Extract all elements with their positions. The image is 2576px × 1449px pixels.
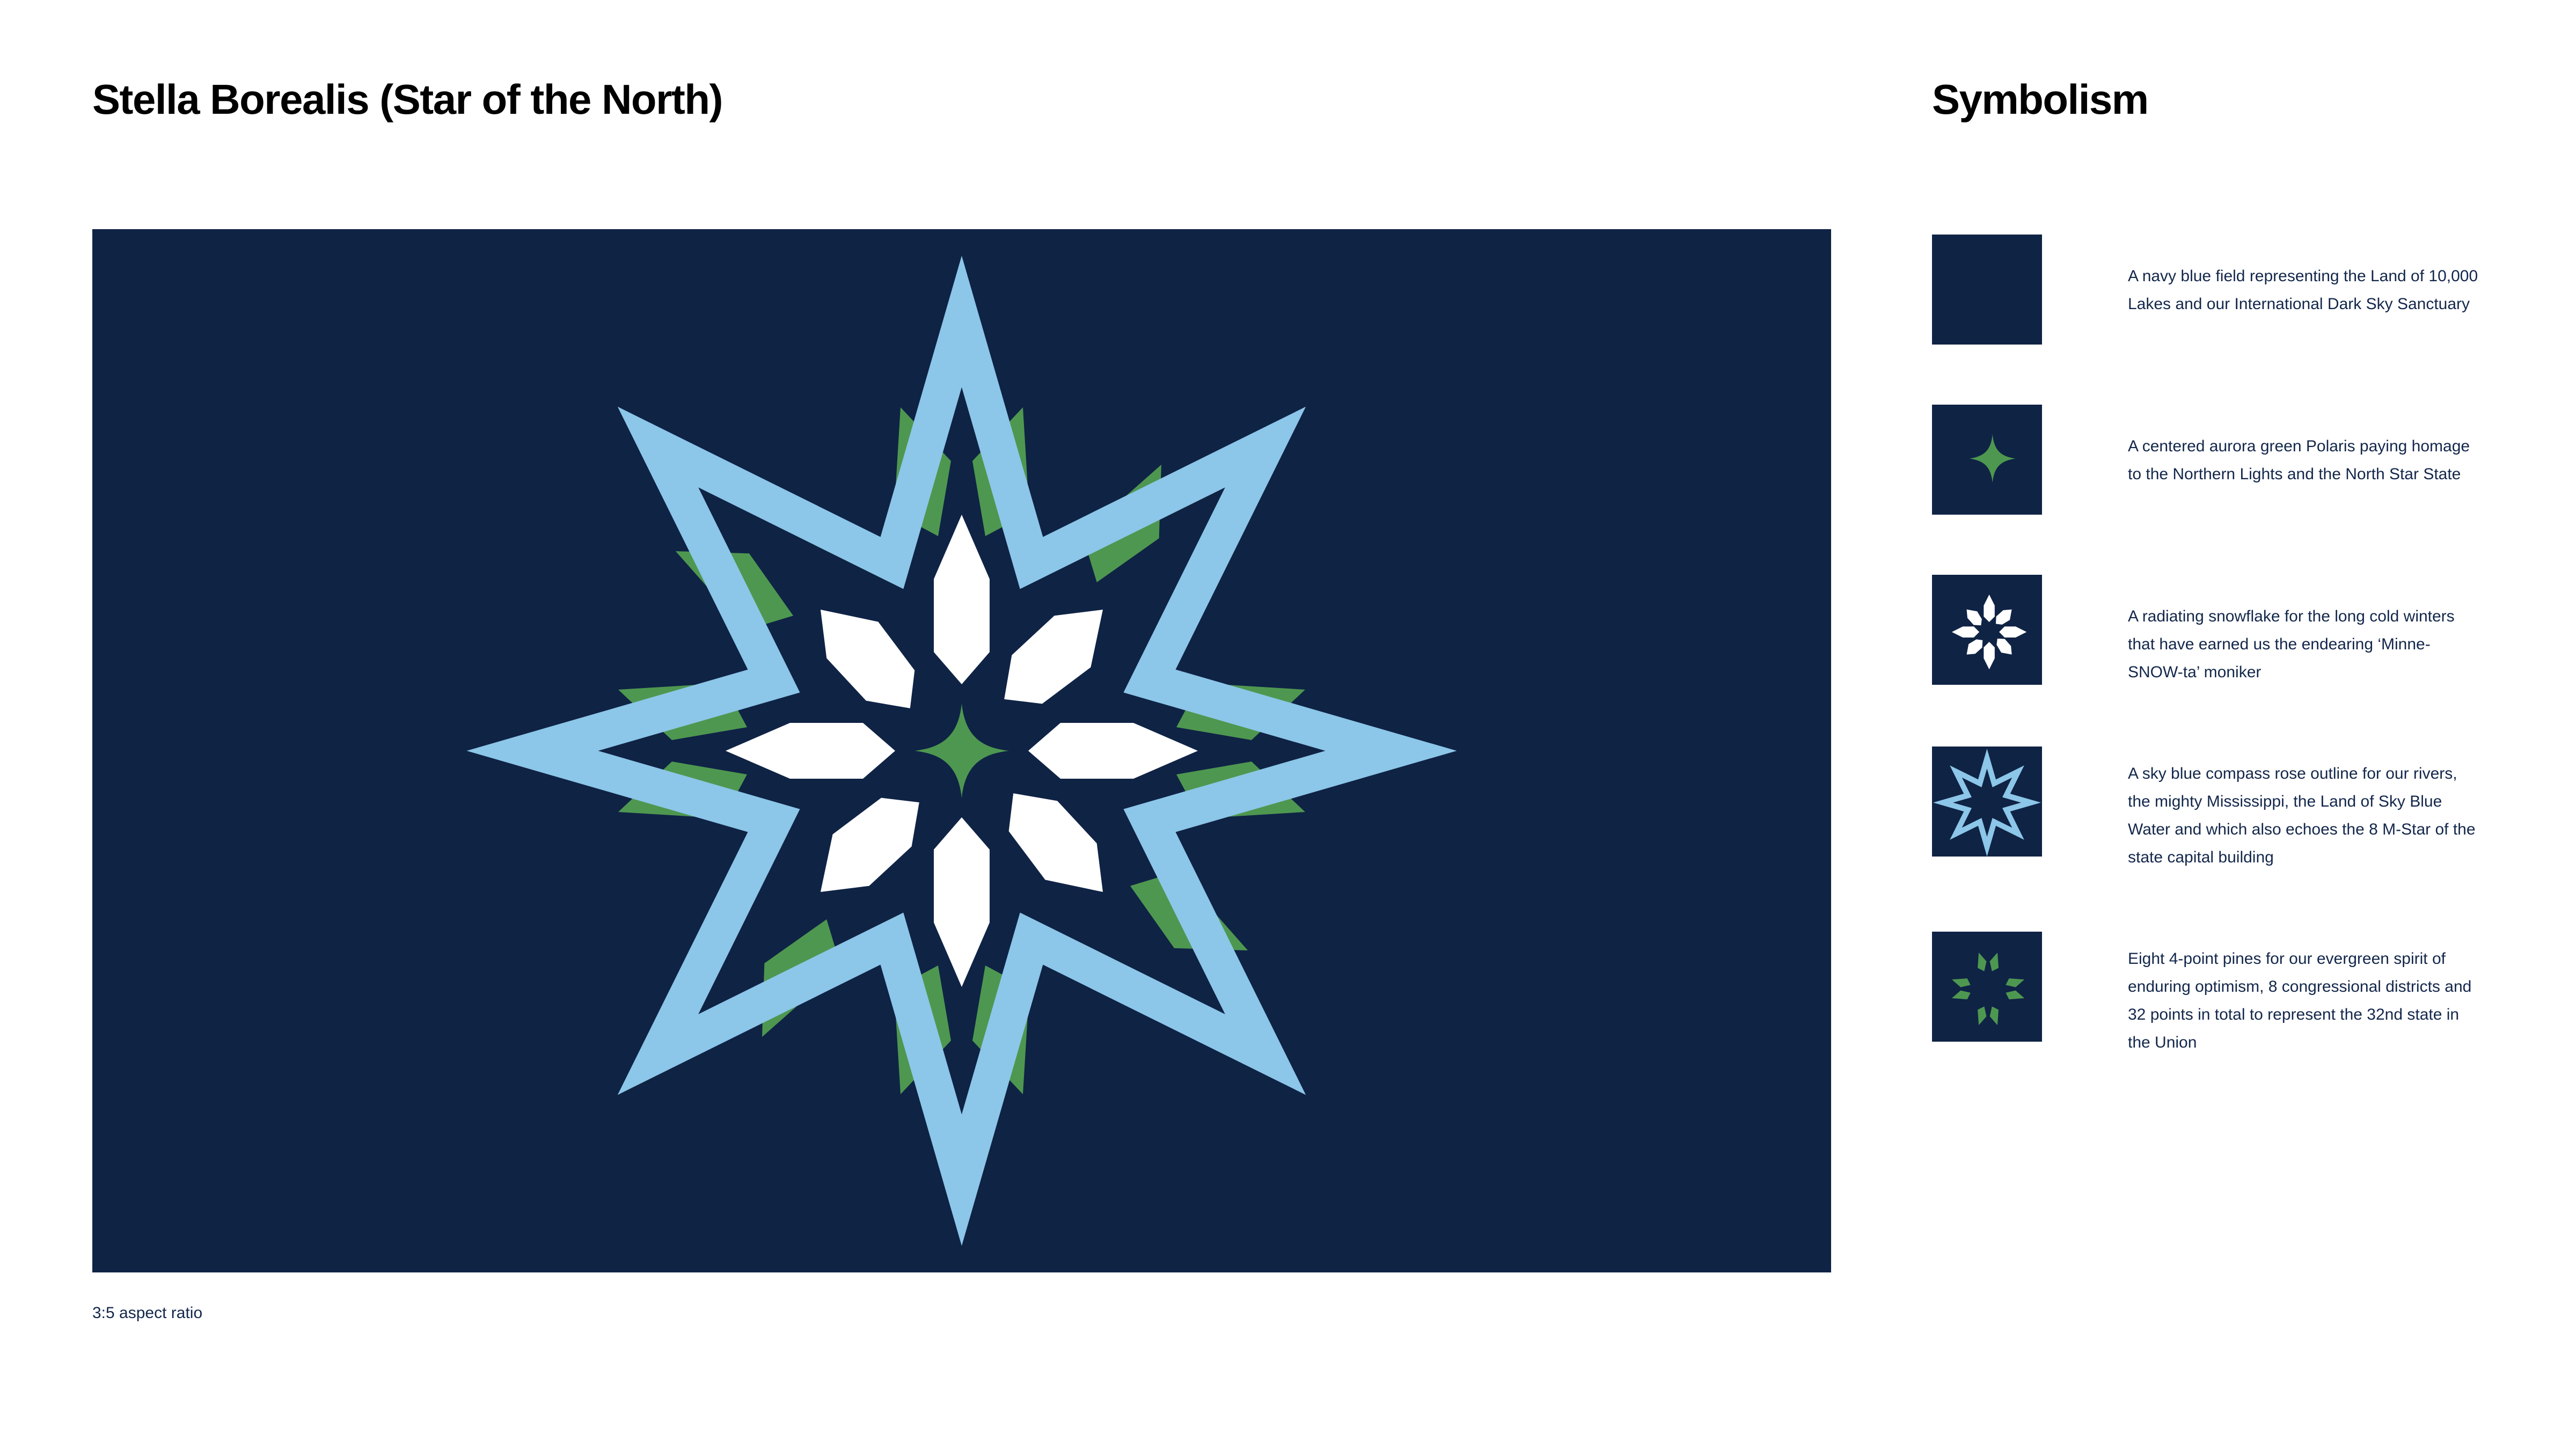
symbolism-item-text: A sky blue compass rose outline for our … [2128,747,2482,872]
symbolism-item-navy-field: A navy blue field representing the Land … [1932,235,2501,345]
navy-field-swatch [1932,235,2042,345]
symbolism-item-text: A radiating snowflake for the long cold … [2128,575,2482,686]
sky-blue-compass-rose-icon [1932,747,2042,857]
flag-figure [92,229,1831,1272]
symbolism-item-snowflake: A radiating snowflake for the long cold … [1932,575,2501,686]
page-title: Stella Borealis (Star of the North) [92,75,722,124]
symbolism-list: A navy blue field representing the Land … [1932,235,2501,1057]
flag-artwork [92,229,1831,1272]
green-pines-ring-icon [1932,932,2042,1042]
symbolism-item-text: A centered aurora green Polaris paying h… [2128,405,2482,488]
flag-caption: 3:5 aspect ratio [92,1304,202,1322]
symbolism-item-polaris: A centered aurora green Polaris paying h… [1932,405,2501,515]
symbolism-title: Symbolism [1932,75,2148,124]
white-snowflake-icon [1932,575,2042,685]
flag-presentation-column: Stella Borealis (Star of the North) [92,0,1831,1449]
symbolism-item-compass-rose: A sky blue compass rose outline for our … [1932,747,2501,872]
symbolism-item-text: Eight 4-point pines for our evergreen sp… [2128,932,2482,1057]
green-polaris-star-icon [1932,405,2042,515]
symbolism-column: Symbolism A navy blue field representing… [1932,0,2501,1449]
symbolism-item-text: A navy blue field representing the Land … [2128,235,2482,318]
symbolism-item-pines: Eight 4-point pines for our evergreen sp… [1932,932,2501,1057]
